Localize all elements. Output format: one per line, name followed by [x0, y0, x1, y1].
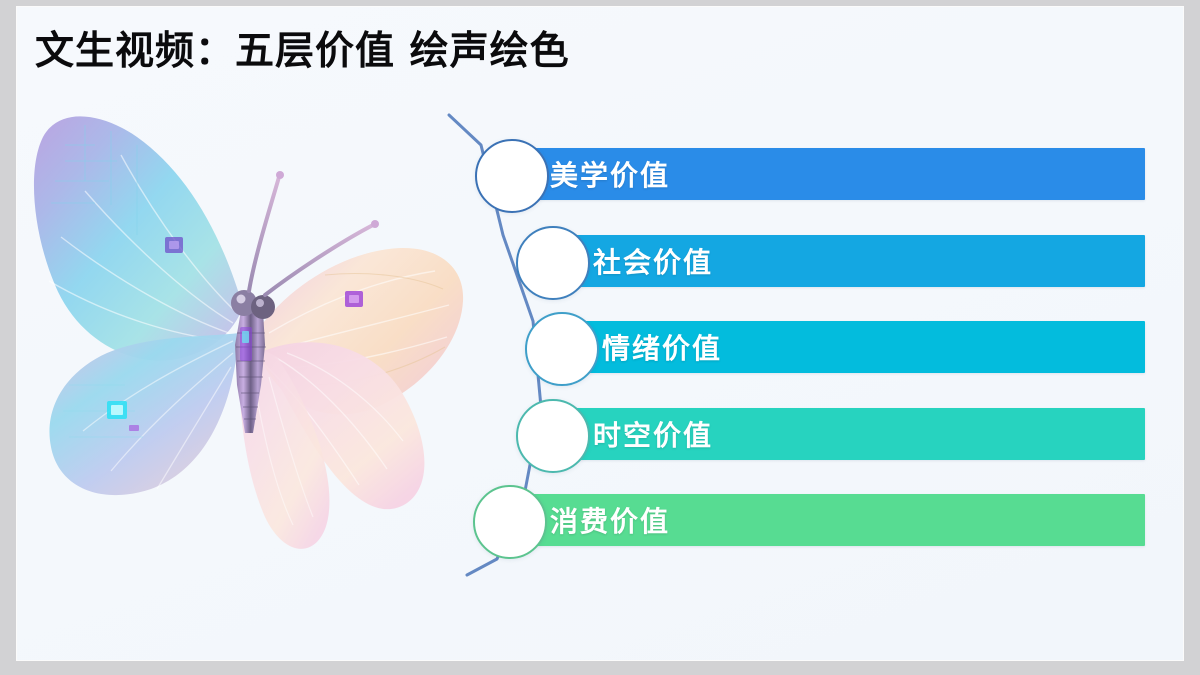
value-layer-label: 时空价值 — [593, 414, 713, 454]
value-layer-node-circle[interactable] — [473, 485, 547, 559]
slide-canvas: 文生视频：五层价值 绘声绘色 — [17, 7, 1183, 660]
value-layer-node-circle[interactable] — [475, 139, 549, 213]
page-title: 文生视频：五层价值 绘声绘色 — [35, 20, 570, 76]
butterfly-illustration — [25, 85, 470, 565]
butterfly-icon — [25, 85, 470, 565]
value-layer-node-circle[interactable] — [525, 312, 599, 386]
value-layer-node-circle[interactable] — [516, 399, 590, 473]
value-layer-label: 美学价值 — [550, 154, 670, 194]
value-layer-label: 社会价值 — [593, 241, 713, 281]
value-layer-label: 消费价值 — [550, 500, 670, 540]
value-layer-label: 情绪价值 — [602, 327, 722, 367]
value-layer-node-circle[interactable] — [516, 226, 590, 300]
screenshot-stage: 文生视频：五层价值 绘声绘色 — [0, 0, 1200, 675]
